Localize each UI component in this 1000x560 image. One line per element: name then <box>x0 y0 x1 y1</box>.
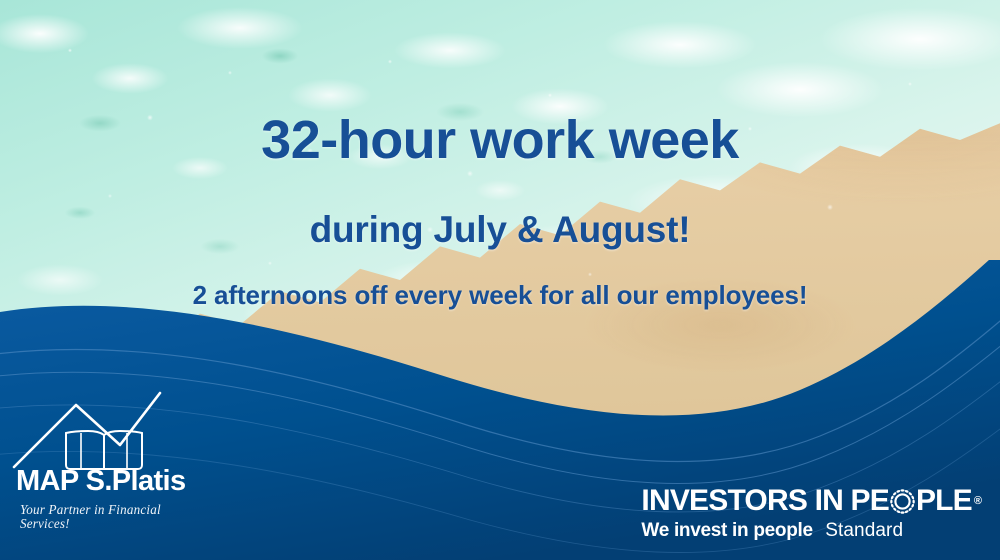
iip-word-ple: PLE <box>916 486 972 516</box>
investors-in-people-logo[interactable]: INVESTORS IN PE <box>641 486 982 540</box>
announcement-copy: 32-hour work week during July & August! … <box>0 112 1000 309</box>
iip-strapline: We invest in people <box>641 520 812 541</box>
iip-secondary-lockup: We invest in people Standard <box>641 521 982 540</box>
iip-accreditation-level: Standard <box>825 520 903 541</box>
subtitle: during July & August! <box>0 211 1000 250</box>
supporting-text: 2 afternoons off every week for all our … <box>0 282 1000 309</box>
laurel-wreath-o-icon <box>889 488 916 515</box>
page-title: 32-hour work week <box>0 112 1000 169</box>
map-slogan: Your Partner in Financial Services! <box>20 503 212 530</box>
map-wordmark: MAP S.Platis <box>16 467 218 496</box>
beach-announcement-banner: 32-hour work week during July & August! … <box>0 0 1000 560</box>
iip-primary-lockup: INVESTORS IN PE <box>641 486 982 516</box>
map-splatis-logo[interactable]: MAP S.Platis Your Partner in Financial S… <box>8 389 218 530</box>
open-book-with-chart-line-icon <box>8 389 208 471</box>
registered-trademark-mark: ® <box>974 496 982 507</box>
iip-word-investors-in-pe: INVESTORS IN PE <box>641 486 889 516</box>
